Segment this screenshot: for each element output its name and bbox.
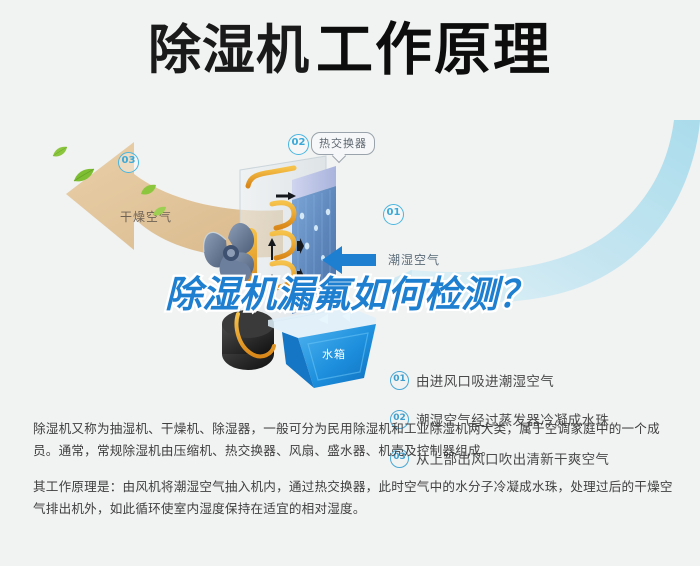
page-title-part2: 工作原理 [316, 18, 552, 82]
page-title: 除湿机工作原理 [0, 22, 700, 79]
page-title-part1: 除湿机 [148, 21, 310, 80]
dehumidifier-unit [176, 142, 396, 392]
list-item: 01 由进风口吸进潮湿空气 [390, 370, 690, 390]
badge-03-dry: 03 [118, 152, 139, 173]
leaf-icon [152, 206, 167, 217]
step-text: 由进风口吸进潮湿空气 [416, 370, 554, 390]
body-copy: 除湿机又称为抽湿机、干燥机、除湿器，一般可分为民用除湿机和工业除湿机两大类，属于… [33, 418, 673, 520]
step-number: 01 [390, 371, 409, 390]
water-tank-label: 水箱 [322, 346, 346, 362]
leaf-icon [140, 184, 157, 196]
badge-02-exchanger: 02 [288, 134, 309, 155]
leaf-icon [52, 146, 68, 158]
paragraph-2: 其工作原理是：由风机将潮湿空气抽入机内，通过热交换器，此时空气中的水分子冷凝成水… [33, 476, 673, 520]
dehumidifier-diagram: 01 潮湿空气 03 干燥空气 [0, 124, 700, 404]
heat-exchanger-callout: 热交换器 [311, 132, 375, 155]
infographic-page: 除湿机工作原理 01 潮湿空气 [0, 0, 700, 566]
humid-air-arrow [352, 120, 700, 310]
paragraph-1: 除湿机又称为抽湿机、干燥机、除湿器，一般可分为民用除湿机和工业除湿机两大类，属于… [33, 418, 673, 462]
leaf-icon [73, 168, 95, 183]
